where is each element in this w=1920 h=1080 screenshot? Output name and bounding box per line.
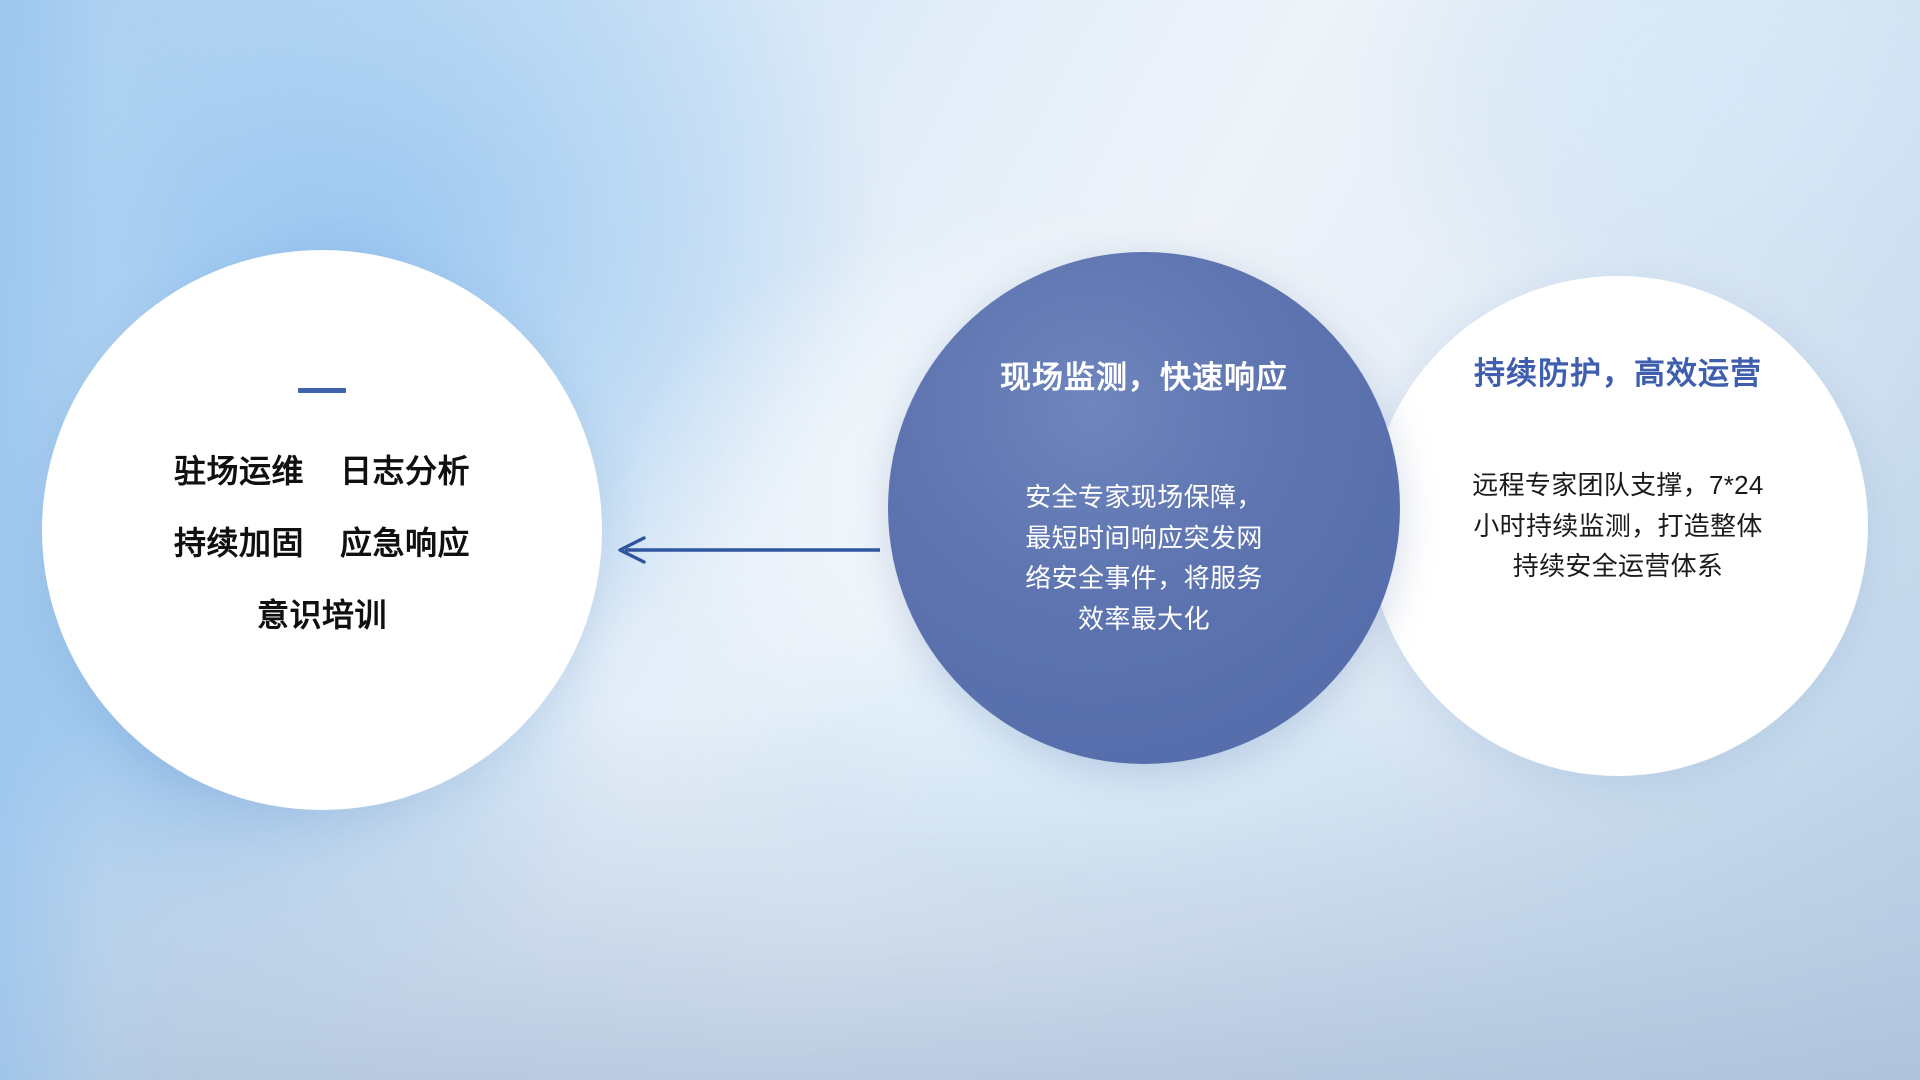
body-line: 小时持续监测，打造整体 bbox=[1408, 506, 1828, 547]
divider-dash bbox=[298, 388, 346, 393]
body-line: 远程专家团队支撑，7*24 bbox=[1408, 465, 1828, 506]
keyword-row: 驻场运维 日志分析 bbox=[174, 455, 470, 487]
keyword-item: 日志分析 bbox=[340, 455, 470, 487]
keyword-item: 持续加固 bbox=[174, 527, 304, 559]
keyword-row: 持续加固 应急响应 bbox=[174, 527, 470, 559]
capability-circle-left: 驻场运维 日志分析 持续加固 应急响应 意识培训 bbox=[42, 250, 602, 810]
capability-circle-middle: 现场监测，快速响应 安全专家现场保障， 最短时间响应突发网 络安全事件，将服务 … bbox=[888, 252, 1400, 764]
middle-circle-title: 现场监测，快速响应 bbox=[1000, 352, 1288, 397]
capability-circle-right: 持续防护，高效运营 远程专家团队支撑，7*24 小时持续监测，打造整体 持续安全… bbox=[1368, 276, 1868, 776]
body-line: 络安全事件，将服务 bbox=[979, 558, 1309, 599]
right-circle-title: 持续防护，高效运营 bbox=[1474, 348, 1762, 393]
body-line: 最短时间响应突发网 bbox=[979, 518, 1309, 559]
keyword-row: 意识培训 bbox=[257, 599, 387, 631]
body-line: 持续安全运营体系 bbox=[1408, 546, 1828, 587]
keyword-item: 应急响应 bbox=[340, 527, 470, 559]
body-line: 效率最大化 bbox=[979, 599, 1309, 640]
body-line: 安全专家现场保障， bbox=[979, 477, 1309, 518]
keyword-item: 驻场运维 bbox=[174, 455, 304, 487]
right-circle-body: 远程专家团队支撑，7*24 小时持续监测，打造整体 持续安全运营体系 bbox=[1408, 465, 1828, 587]
middle-circle-body: 安全专家现场保障， 最短时间响应突发网 络安全事件，将服务 效率最大化 bbox=[979, 477, 1309, 639]
keyword-item: 意识培训 bbox=[257, 599, 387, 631]
left-circle-content: 驻场运维 日志分析 持续加固 应急响应 意识培训 bbox=[42, 388, 602, 631]
